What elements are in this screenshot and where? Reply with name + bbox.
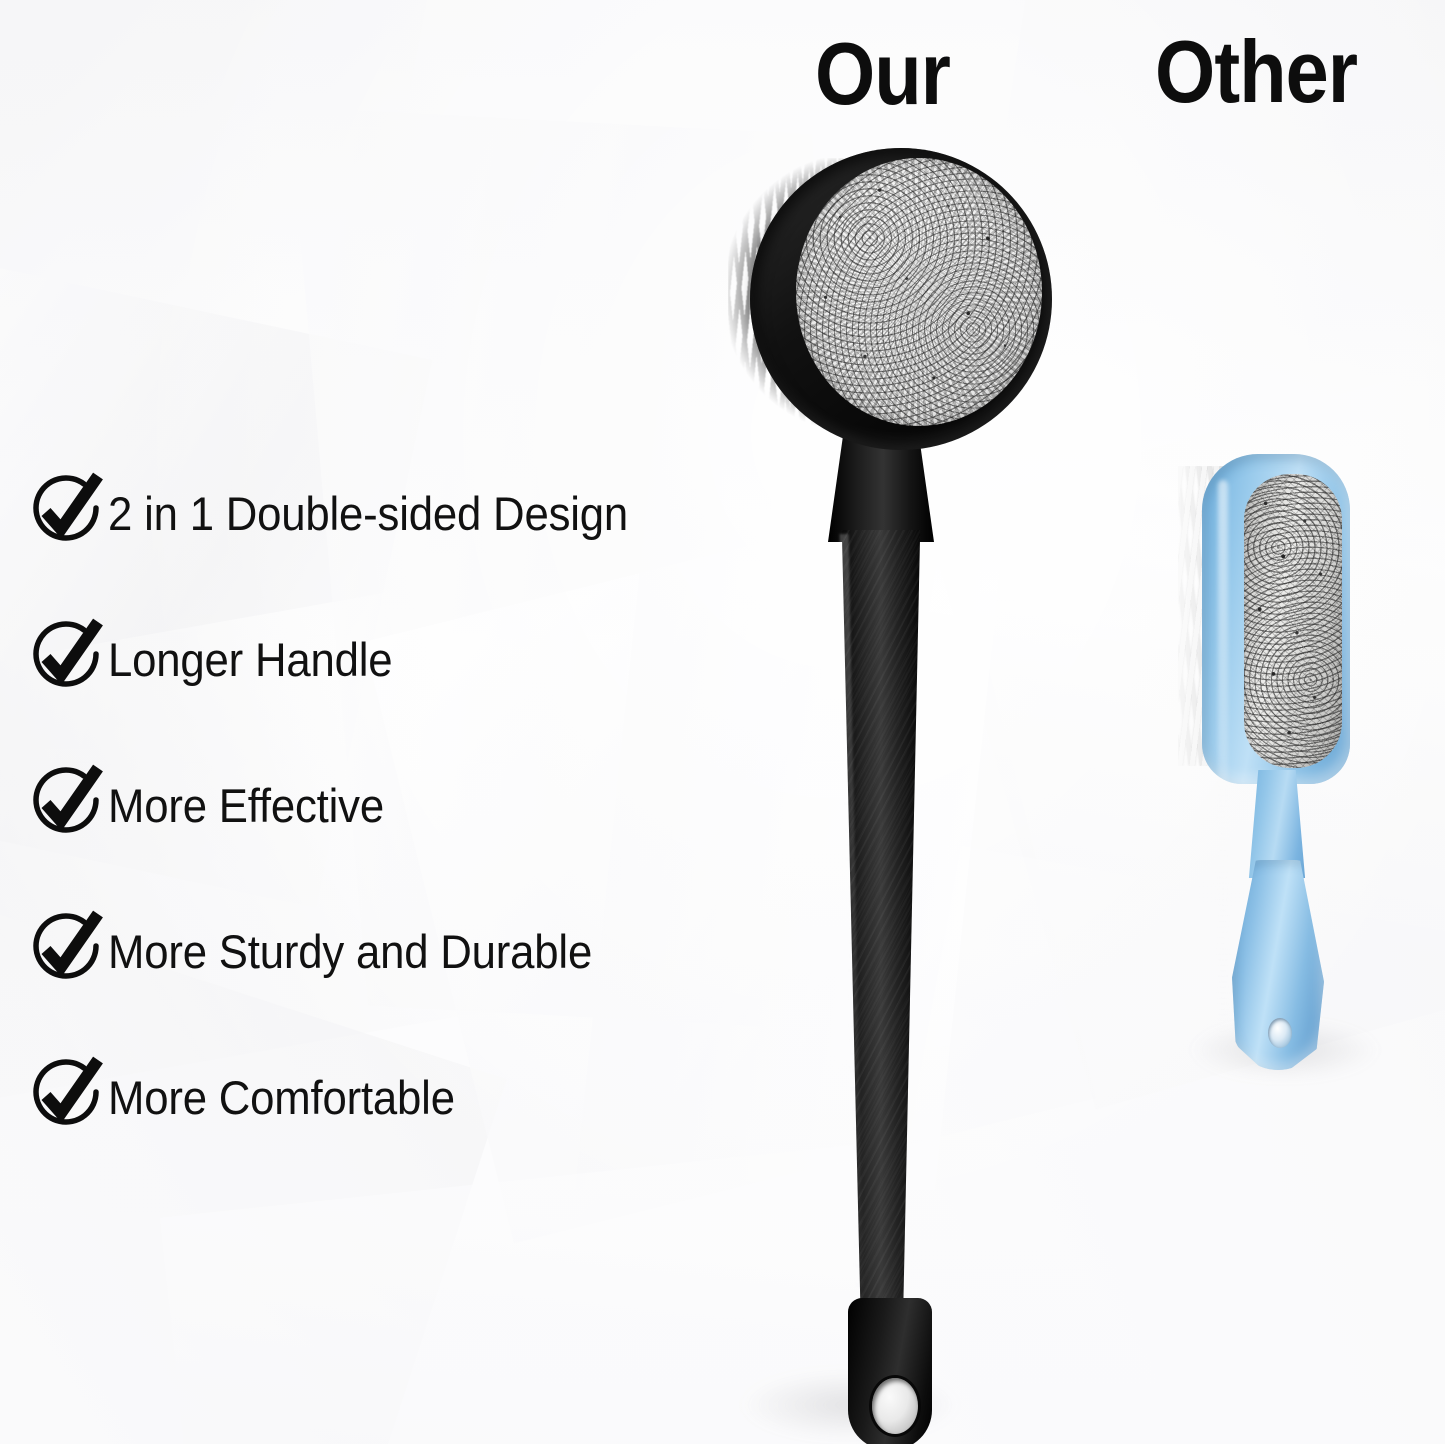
column-header-other: Other	[1155, 28, 1357, 116]
other-hang-hole	[1268, 1018, 1292, 1048]
feature-label: More Effective	[108, 778, 384, 833]
column-header-our: Our	[815, 30, 950, 118]
feature-label: More Comfortable	[108, 1070, 455, 1125]
our-product-image	[700, 130, 1080, 1430]
product-comparison-image: Our Other 2 in 1 Double-sided Design Lon…	[0, 0, 1445, 1444]
feature-label: More Sturdy and Durable	[108, 924, 592, 979]
check-circle-icon	[28, 472, 106, 554]
check-circle-icon	[28, 618, 106, 700]
check-circle-icon	[28, 764, 106, 846]
other-pumice-stone	[1244, 474, 1342, 768]
pumice-grain-texture	[796, 158, 1042, 426]
feature-label: 2 in 1 Double-sided Design	[108, 486, 628, 541]
our-pumice-stone	[796, 158, 1042, 426]
other-product-image	[1160, 440, 1410, 1080]
other-handle-highlight	[1218, 480, 1228, 1040]
feature-label: Longer Handle	[108, 632, 392, 687]
check-circle-icon	[28, 1056, 106, 1138]
our-hang-hole	[872, 1378, 918, 1434]
check-circle-icon	[28, 910, 106, 992]
